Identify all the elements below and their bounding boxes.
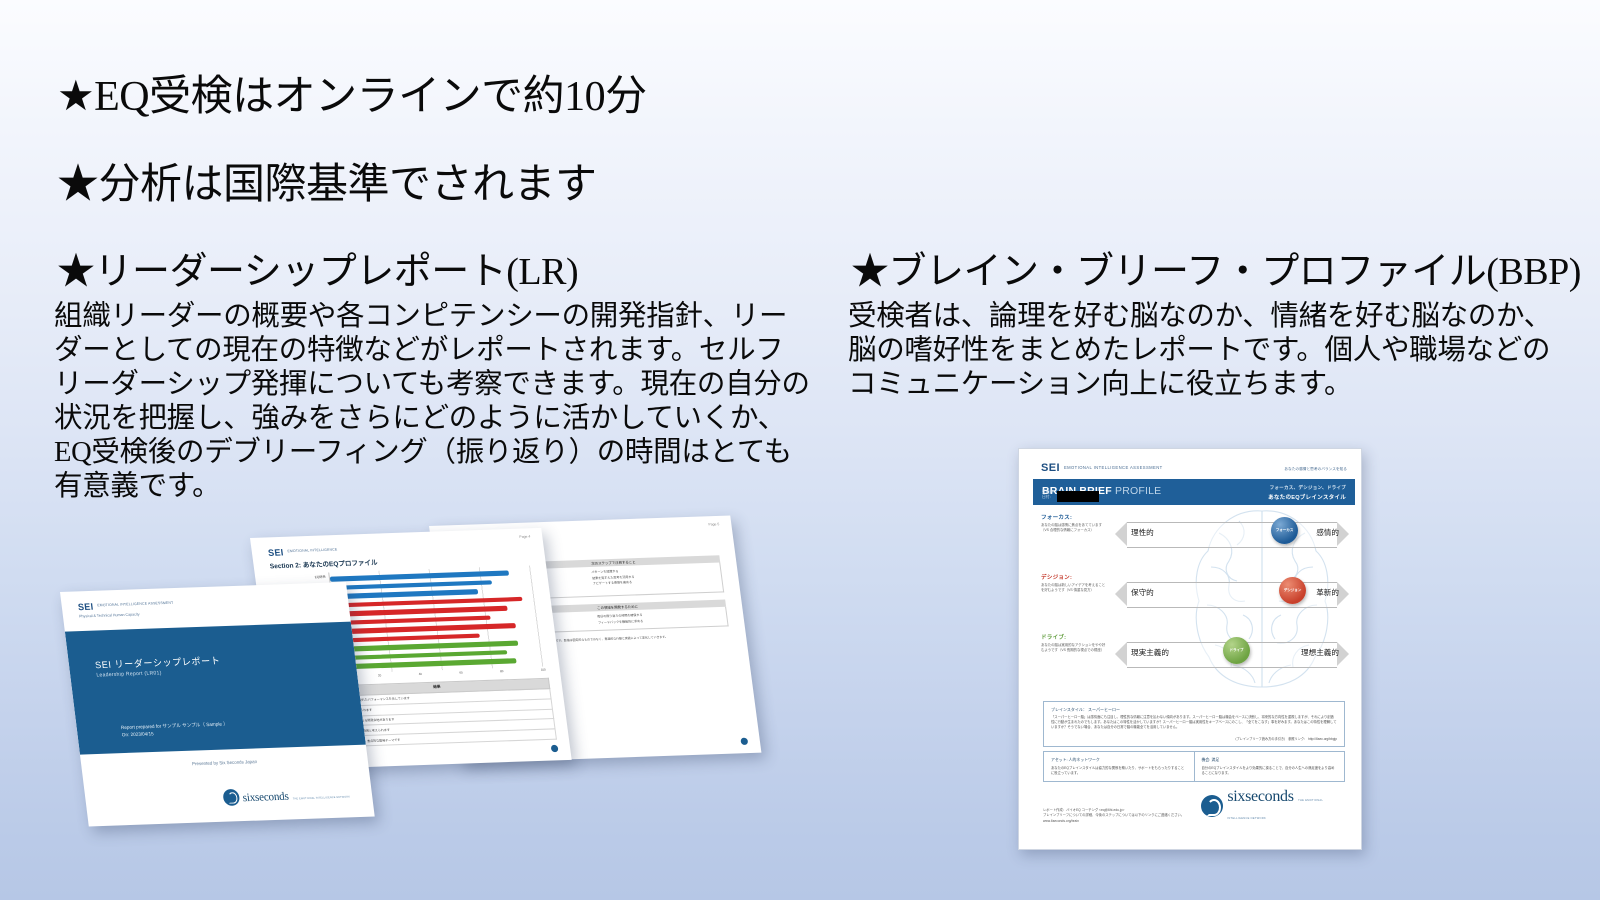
bbp-axes-summary: フォーカス、デシジョン、ドライブ bbox=[1268, 485, 1346, 491]
cover-blue-band: SEI リーダーシップレポート Leadership Report (LR01)… bbox=[65, 622, 366, 755]
card-body: 自分のEQブレインスタイルをより効果的に操ることで、自分の人生への満足度をより高… bbox=[1202, 766, 1338, 776]
axis-right-label-decision: 革新的 bbox=[1316, 587, 1339, 598]
bbp-header: SEI EMOTIONAL INTELLIGENCE ASSESSMENT あな… bbox=[1033, 458, 1355, 479]
axis-title-focus: フォーカス: bbox=[1041, 513, 1107, 521]
sixseconds-logo: sixseconds THE EMOTIONAL INTELLIGENCE NE… bbox=[1201, 788, 1345, 824]
brain-brief-profile-report: SEI EMOTIONAL INTELLIGENCE ASSESSMENT あな… bbox=[1018, 448, 1362, 850]
headline-leadership-report: ★リーダーシップレポート(LR) bbox=[57, 240, 578, 295]
page-number: Page 4 bbox=[519, 534, 530, 539]
cover-title: SEI リーダーシップレポート bbox=[94, 653, 221, 671]
bbp-band-right: フォーカス、デシジョン、ドライブ あなたのEQブレインスタイル bbox=[1268, 485, 1346, 501]
sixseconds-spiral-icon bbox=[223, 789, 241, 806]
note-heading: ブレインスタイル： スーパーヒーロー bbox=[1051, 707, 1337, 713]
arrow-left-icon bbox=[1115, 642, 1127, 666]
axis-desc-drive: あなたの脳は実用的なアクションをやや好むようです（VS 長期的な視点での視座） bbox=[1041, 643, 1107, 652]
sixseconds-wordmark: sixseconds bbox=[1227, 788, 1293, 805]
arrow-left-icon bbox=[1115, 582, 1127, 606]
card-heading: 機会: 満足 bbox=[1202, 757, 1338, 763]
marker-drive: ドライブ bbox=[1223, 637, 1250, 664]
sixseconds-text-group: sixseconds THE EMOTIONAL INTELLIGENCE NE… bbox=[241, 784, 350, 806]
sei-wordmark: SEI bbox=[1041, 463, 1060, 474]
sei-wordmark: SEI bbox=[267, 547, 284, 558]
strategy-col-right: 毎日の振り返りの時間を確保する フィードバックを積極的に求める bbox=[592, 607, 728, 630]
sei-subtitle: EMOTIONAL INTELLIGENCE ASSESSMENT bbox=[97, 599, 174, 608]
axis-title-decision: デシジョン: bbox=[1041, 573, 1107, 581]
bbp-footer: レポート作成：バイオEQ コーチング <eq@6hi-edu.jp> ブレインブ… bbox=[1043, 788, 1345, 824]
axis-right-label-focus: 感情的 bbox=[1316, 527, 1339, 538]
axis-description-focus: フォーカス: あなたの脳は感情に焦点をあてています（VS 合理的な情報にフォーカ… bbox=[1041, 513, 1107, 532]
axis-left-label-drive: 現実主義的 bbox=[1131, 647, 1169, 658]
marker-decision: デシジョン bbox=[1279, 577, 1306, 604]
axis-arrow-decision: 保守的 革新的 bbox=[1115, 582, 1349, 606]
axis-tick: 60 bbox=[459, 670, 463, 674]
headline-eq-online: ★EQ受検はオンラインで約10分 bbox=[57, 62, 647, 123]
card-opportunity: 機会: 満足 自分のEQブレインスタイルをより効果的に操ることで、自分の人生への… bbox=[1195, 752, 1345, 781]
card-heading: アセット: 人的ネットワーク bbox=[1051, 757, 1187, 763]
axis-row-decision: デシジョン: あなたの脳は新しいアイデアを考えることを好むようです（VS 慎重な… bbox=[1033, 573, 1355, 625]
note-body: 「スーパーヒーロー脳」は感情面にも注目し、理性的な情報に注意を払わない傾向があり… bbox=[1051, 715, 1337, 730]
chart-bar bbox=[341, 658, 516, 669]
axis-tick: 80 bbox=[500, 669, 504, 673]
sei-subtitle: EMOTIONAL INTELLIGENCE bbox=[287, 545, 338, 553]
axis-tick: 20 bbox=[378, 673, 382, 677]
chart-bar bbox=[332, 589, 479, 599]
bbp-style-label: あなたのEQブレインスタイル bbox=[1268, 493, 1346, 501]
axis-desc-focus: あなたの脳は感情に焦点をあてています（VS 合理的な情報にフォーカス） bbox=[1041, 523, 1107, 532]
axis-tick: 100 bbox=[541, 668, 546, 672]
bbp-identity-block: 受検者: 日付: bbox=[1042, 490, 1099, 502]
sixseconds-logo: sixseconds THE EMOTIONAL INTELLIGENCE NE… bbox=[222, 784, 350, 807]
arrow-left-icon bbox=[1115, 522, 1127, 546]
card-body: あなたのEQブレインスタイルは協力的な関係を築いたり、サポートをもらったりするこ… bbox=[1051, 766, 1187, 776]
sixseconds-text-group: sixseconds THE EMOTIONAL INTELLIGENCE NE… bbox=[1227, 788, 1345, 824]
sei-wordmark: SEI bbox=[77, 601, 94, 612]
axis-tick: 40 bbox=[418, 672, 422, 676]
bbp-title-light: PROFILE bbox=[1115, 485, 1161, 497]
note-footnote: （ブレインブリーフ読み方の手引き） 参照リンク： http://6sec.org… bbox=[1051, 736, 1337, 741]
chart-bar bbox=[337, 623, 516, 634]
sixseconds-spiral-icon bbox=[1201, 795, 1223, 817]
chart-plot-area bbox=[328, 565, 545, 673]
axis-right-label-drive: 理想主義的 bbox=[1301, 647, 1339, 658]
chart-tick-label: EQ総合 bbox=[314, 575, 326, 580]
bbp-style-note-box: ブレインスタイル： スーパーヒーロー 「スーパーヒーロー脳」は感情面にも注目し、… bbox=[1043, 701, 1345, 747]
leadership-report-document-stack: Page 5 SEI EMOTIONAL INTELLIGENCE 成長のための… bbox=[55, 520, 815, 860]
axis-row-drive: ドライブ: あなたの脳は実用的なアクションをやや好むようです（VS 長期的な視点… bbox=[1033, 633, 1355, 685]
bbp-asset-opportunity-cards: アセット: 人的ネットワーク あなたのEQブレインスタイルは協力的な関係を築いた… bbox=[1043, 751, 1345, 782]
headline-international-standard: ★分析は国際基準でされます bbox=[57, 150, 597, 211]
bbp-page: SEI EMOTIONAL INTELLIGENCE ASSESSMENT あな… bbox=[1033, 458, 1355, 845]
lr-cover-page: SEI EMOTIONAL INTELLIGENCE ASSESSMENT Ph… bbox=[60, 582, 375, 826]
paragraph-brain-brief-profile: 受検者は、論理を好む脳なのか、情緒を好む脳なのか、脳の嗜好性をまとめたレポートで… bbox=[848, 300, 1578, 402]
axis-description-decision: デシジョン: あなたの脳は新しいアイデアを考えることを好むようです（VS 慎重な… bbox=[1041, 573, 1107, 592]
axis-title-drive: ドライブ: bbox=[1041, 633, 1107, 641]
table-col-right: パターンを認識する 結果を見すえた思考を活用する ナビゲートする感情を高める bbox=[586, 562, 723, 596]
axis-left-label-decision: 保守的 bbox=[1131, 587, 1154, 598]
bbp-identity-labels: 受検者: 日付: bbox=[1042, 490, 1054, 500]
headline-brain-brief-profile: ★ブレイン・ブリーフ・プロファイル(BBP) bbox=[851, 240, 1581, 295]
cover-meta: Report prepared for サンプル サンプル（ Sample ） … bbox=[121, 720, 230, 738]
axis-left-label-focus: 理性的 bbox=[1131, 527, 1154, 538]
bbp-footer-text: レポート作成：バイオEQ コーチング <eq@6hi-edu.jp> ブレインブ… bbox=[1043, 808, 1201, 825]
sixseconds-wordmark: sixseconds bbox=[242, 790, 289, 804]
footer-line-2: ブレインブリーフについての詳細、今後のステップについては以下のリンクにご連絡くだ… bbox=[1043, 813, 1201, 824]
axis-arrow-focus: 理性的 感情的 bbox=[1115, 522, 1349, 546]
label-date: 日付: bbox=[1042, 495, 1054, 500]
bbp-title-band: BRAIN BRIEF PROFILE フォーカス、デシジョン、ドライブ あなた… bbox=[1033, 479, 1355, 505]
axis-row-focus: フォーカス: あなたの脳は感情に焦点をあてています（VS 合理的な情報にフォーカ… bbox=[1033, 513, 1355, 565]
chart-bar bbox=[338, 633, 481, 643]
axis-description-drive: ドライブ: あなたの脳は実用的なアクションをやや好むようです（VS 長期的な視点… bbox=[1041, 633, 1107, 652]
axis-desc-decision: あなたの脳は新しいアイデアを考えることを好むようです（VS 慎重な見方） bbox=[1041, 583, 1107, 592]
card-asset: アセット: 人的ネットワーク あなたのEQブレインスタイルは協力的な関係を築いた… bbox=[1044, 752, 1195, 781]
page-number: Page 5 bbox=[708, 522, 719, 527]
axis-bar bbox=[1127, 522, 1337, 548]
sei-logo: SEI EMOTIONAL INTELLIGENCE ASSESSMENT bbox=[1041, 463, 1163, 474]
marker-focus: フォーカス bbox=[1271, 517, 1298, 544]
paragraph-leadership-report: 組織リーダーの概要や各コンピテンシーの開発指針、リーダーとしての現在の特徴などが… bbox=[54, 300, 814, 504]
bbp-header-tagline: あなたの感情と思考のバランスを知る bbox=[1284, 463, 1347, 472]
page-corner-dot-icon bbox=[740, 738, 748, 745]
sei-subtitle: EMOTIONAL INTELLIGENCE ASSESSMENT bbox=[1064, 463, 1163, 470]
sixseconds-tagline: THE EMOTIONAL INTELLIGENCE NETWORK bbox=[293, 795, 351, 800]
redacted-identity-block bbox=[1057, 491, 1099, 502]
bbp-brain-diagram: フォーカス: あなたの脳は感情に焦点をあてています（VS 合理的な情報にフォーカ… bbox=[1033, 505, 1355, 697]
cover-subtitle: Leadership Report (LR01) bbox=[96, 670, 162, 679]
page-corner-dot-icon bbox=[551, 745, 559, 752]
